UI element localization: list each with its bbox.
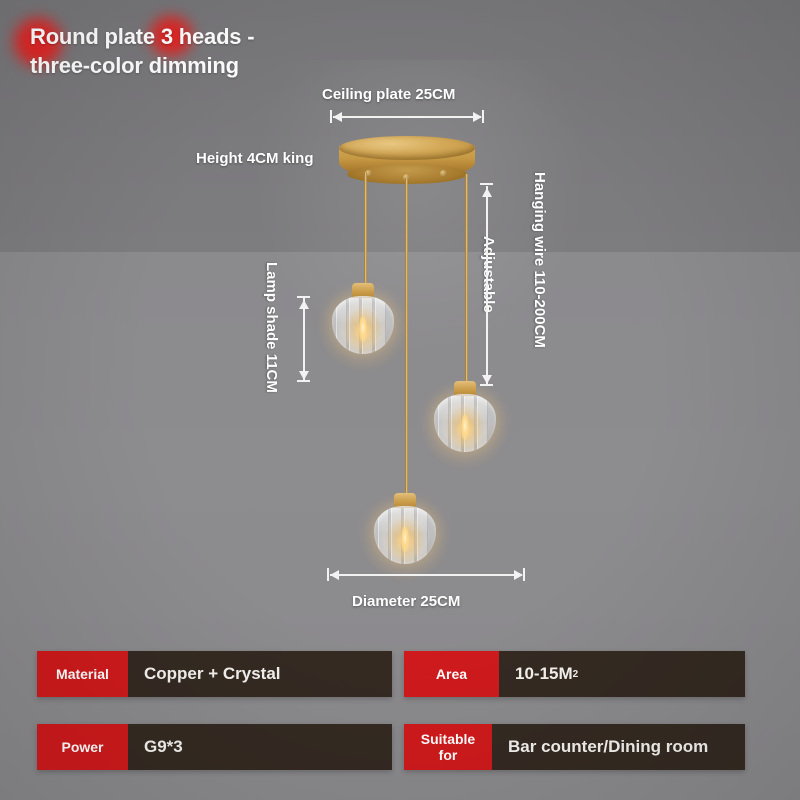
dim-cap-adjustable-bottom <box>480 384 493 386</box>
dim-cap-shade-bottom <box>297 380 310 382</box>
spec-row-material: Material Copper + Crystal <box>37 651 392 697</box>
label-adjustable: Adjustable <box>480 236 497 313</box>
hanging-wire-2 <box>465 174 468 386</box>
dim-cap-diameter-left <box>327 568 329 581</box>
plate-screw-right <box>440 170 447 177</box>
dim-cap-diameter-right <box>523 568 525 581</box>
label-hanging-wire: Hanging wire 110-200CM <box>531 172 548 348</box>
label-diameter: Diameter 25CM <box>352 593 460 610</box>
dim-arrow-adjustable-down <box>482 375 492 384</box>
ceiling-plate-top <box>339 136 475 160</box>
spec-value-area: 10-15M2 <box>499 651 745 697</box>
lamp-shade-3-crystal <box>374 506 436 564</box>
spec-value-area-superscript: 2 <box>573 669 579 680</box>
spec-row-power: Power G9*3 <box>37 724 392 770</box>
dim-line-lamp-shade <box>303 298 305 380</box>
label-lamp-shade: Lamp shade 11CM <box>263 262 280 393</box>
page-title: Round plate 3 heads - three-color dimmin… <box>30 22 360 80</box>
dim-cap-ceiling-right <box>482 110 484 123</box>
spec-value-material: Copper + Crystal <box>128 651 392 697</box>
dim-cap-shade-top <box>297 296 310 298</box>
spec-value-power: G9*3 <box>128 724 392 770</box>
spec-key-area: Area <box>404 651 499 697</box>
dim-arrow-diameter-right <box>514 570 523 580</box>
spec-row-area: Area 10-15M2 <box>404 651 745 697</box>
lamp-shade-1-crystal <box>332 296 394 354</box>
hanging-wire-1 <box>364 172 367 290</box>
label-height-king: Height 4CM king <box>196 150 314 167</box>
lamp-shade-1-bulb <box>359 316 367 342</box>
spec-value-suitable-for: Bar counter/Dining room <box>492 724 745 770</box>
lamp-shade-3-bulb <box>401 526 409 552</box>
spec-key-power: Power <box>37 724 128 770</box>
spec-row-suitable-for: Suitable for Bar counter/Dining room <box>404 724 745 770</box>
lamp-shade-2-bulb <box>461 414 469 440</box>
lamp-shade-3 <box>374 502 436 564</box>
dim-line-ceiling-plate <box>333 116 481 118</box>
label-ceiling-plate: Ceiling plate 25CM <box>322 86 455 103</box>
dim-cap-adjustable-top <box>480 183 493 185</box>
dim-cap-ceiling-left <box>330 110 332 123</box>
lamp-shade-2-crystal <box>434 394 496 452</box>
lamp-shade-1 <box>332 292 394 354</box>
dim-arrow-ceiling-right <box>473 112 482 122</box>
product-spec-image: Round plate 3 heads - three-color dimmin… <box>0 0 800 800</box>
dim-arrow-diameter-left <box>330 570 339 580</box>
hanging-wire-3 <box>405 178 408 498</box>
spec-key-material: Material <box>37 651 128 697</box>
dim-arrow-shade-down <box>299 371 309 380</box>
dim-arrow-adjustable-up <box>482 188 492 197</box>
dim-arrow-ceiling-left <box>333 112 342 122</box>
spec-key-suitable-for: Suitable for <box>404 724 492 770</box>
dim-line-diameter <box>330 574 522 576</box>
lamp-shade-2 <box>434 390 496 452</box>
dim-line-adjustable <box>486 186 488 384</box>
dim-arrow-shade-up <box>299 300 309 309</box>
spec-value-area-text: 10-15M <box>515 664 573 684</box>
